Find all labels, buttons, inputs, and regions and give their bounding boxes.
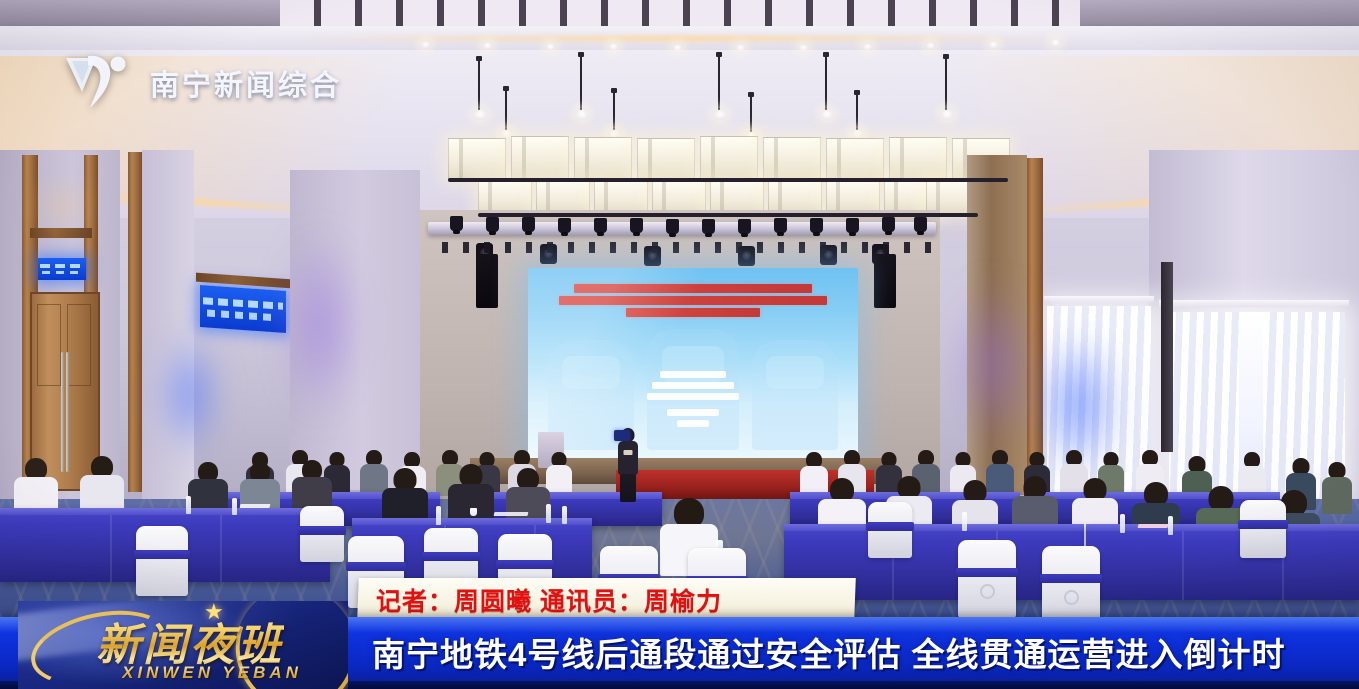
stage-light <box>666 219 679 234</box>
downlight <box>608 42 619 51</box>
downlight <box>672 43 683 52</box>
chair <box>868 502 912 558</box>
side-led-panel <box>200 285 286 333</box>
video-camera <box>614 430 630 441</box>
stage-light <box>774 218 787 233</box>
stage-light <box>630 218 643 233</box>
pendant-rod <box>856 92 858 130</box>
cove-strip-top <box>300 36 1060 41</box>
stage-light <box>810 218 823 233</box>
stage-light <box>702 219 715 234</box>
pendant-bulb <box>940 108 954 120</box>
pendant-rod <box>825 54 827 110</box>
pendant-cap <box>854 90 860 95</box>
downlight <box>482 41 493 50</box>
pendant-bulb <box>820 108 834 120</box>
headline-text: 南宁地铁4号线后通段通过安全评估 全线贯通运营进入倒计时 <box>372 628 1286 676</box>
curtain-rod-mid <box>1044 296 1154 303</box>
vertical-post-right <box>1161 262 1173 452</box>
led-screen <box>528 268 858 458</box>
pendant-cap <box>943 54 949 59</box>
document <box>240 504 271 508</box>
wood-trim-right <box>1027 158 1043 488</box>
program-logo: ★ 新闻夜班 XINWEN YEBAN <box>18 601 348 689</box>
pendant-cap <box>716 52 722 57</box>
pendant-rod <box>945 56 947 110</box>
ceiling-slats <box>280 0 1080 26</box>
channel-logo-mark-icon <box>62 52 140 114</box>
water-bottle <box>232 498 237 515</box>
wall-accent-light-left <box>32 188 92 222</box>
pendant-rod <box>505 88 507 130</box>
stage-light <box>846 218 859 233</box>
stage-light <box>914 217 927 232</box>
stage-light <box>558 218 571 233</box>
truss-light-row <box>442 242 932 253</box>
blue-wall-glow-left <box>160 330 220 460</box>
door-led-sign-left <box>38 258 86 280</box>
curtain-rod-right <box>1159 300 1349 307</box>
chair <box>136 526 188 596</box>
pendant-cap <box>476 56 482 61</box>
stage-light <box>486 217 499 232</box>
door-header-shelf <box>30 228 92 238</box>
speaker-right <box>874 254 896 308</box>
program-title-en: XINWEN YEBAN <box>122 663 302 683</box>
lighting-truss <box>428 222 936 235</box>
pendant-cap <box>503 86 509 91</box>
downlight <box>545 42 556 51</box>
speaker-left <box>476 254 498 308</box>
stage-light <box>522 217 535 232</box>
pendant-rod <box>613 90 615 130</box>
wood-trim-mid <box>128 152 142 492</box>
chair <box>1042 546 1100 624</box>
pendant-rod <box>750 94 752 132</box>
downlight <box>988 40 999 49</box>
downlight <box>925 41 936 50</box>
pendant-cap <box>578 52 584 57</box>
pendant-cap <box>748 92 754 97</box>
document <box>494 512 529 516</box>
chair <box>958 540 1016 618</box>
byline-text: 记者：周圆曦 通讯员：周榆力 <box>376 582 722 618</box>
chair <box>1240 500 1286 558</box>
downlight <box>798 43 809 52</box>
pendant-rod <box>718 54 720 110</box>
pendant-cap <box>823 52 829 57</box>
conference-table <box>1086 524 1359 600</box>
stage-light <box>450 216 463 231</box>
pendant-rod <box>478 58 480 110</box>
water-bottle <box>962 512 967 531</box>
broadcast-frame: 南宁新闻综合 记者：周圆曦 通讯员：周榆力 ★ 新闻夜班 XINWEN YEBA… <box>0 0 1359 689</box>
chair <box>300 506 344 562</box>
pendant-bulb <box>713 108 727 120</box>
purple-wall-glow-right <box>959 280 1029 450</box>
downlight <box>735 43 746 52</box>
water-bottle <box>1120 514 1125 533</box>
stage-light <box>738 219 751 234</box>
downlight <box>1050 38 1061 47</box>
water-bottle <box>1168 516 1173 535</box>
chandelier-upper <box>448 138 1008 182</box>
stage-light <box>594 218 607 233</box>
channel-name: 南宁新闻综合 <box>150 62 342 104</box>
stage-light <box>882 217 895 232</box>
pendant-cap <box>611 88 617 93</box>
pendant-bulb <box>575 108 589 120</box>
purple-wall-glow-left <box>286 230 356 420</box>
water-bottle <box>546 504 551 523</box>
downlight <box>420 40 431 49</box>
downlight <box>862 42 873 51</box>
water-bottle <box>436 506 441 525</box>
pendant-bulb <box>473 108 487 120</box>
attendee <box>1322 462 1352 514</box>
videographer <box>612 428 644 520</box>
cup <box>470 508 477 516</box>
water-bottle <box>186 496 191 514</box>
pendant-rod <box>580 54 582 110</box>
channel-logo: 南宁新闻综合 <box>62 52 342 114</box>
document <box>1138 524 1169 528</box>
water-bottle <box>562 506 567 524</box>
